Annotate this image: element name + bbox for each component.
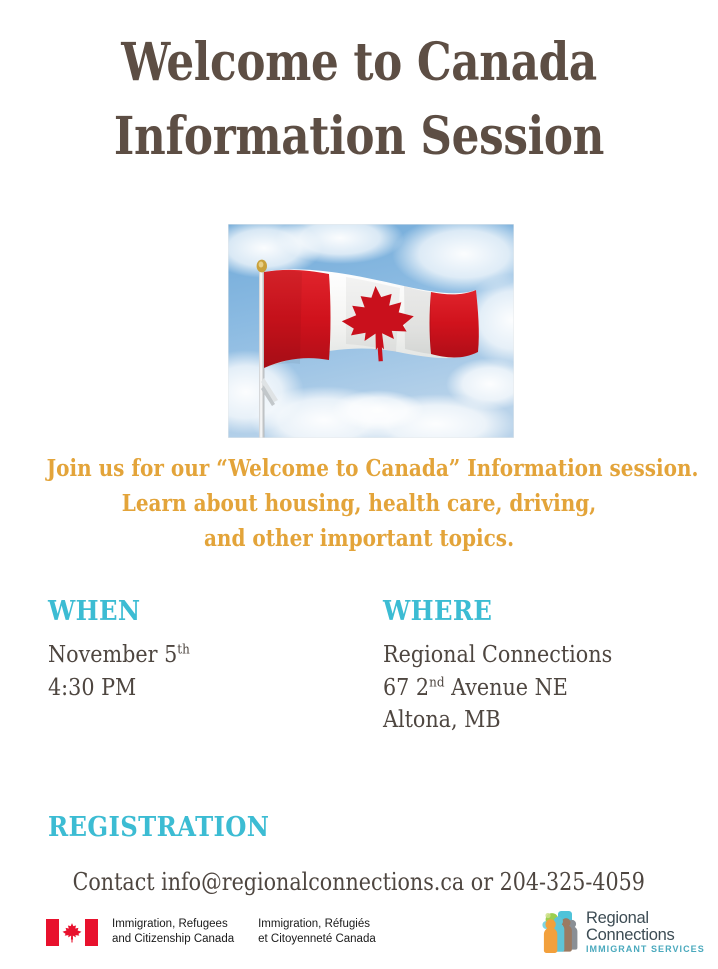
ircc-french-line-1: Immigration, Réfugiés: [258, 917, 376, 932]
when-date-text: November 5: [48, 642, 177, 668]
rc-name-line-2: Connections: [586, 927, 705, 944]
when-time: 4:30 PM: [48, 672, 190, 705]
ircc-english-line-1: Immigration, Refugees: [112, 917, 234, 932]
people-group-icon: [541, 909, 581, 955]
ircc-english: Immigration, Refugees and Citizenship Ca…: [112, 917, 234, 948]
rc-tagline: IMMIGRANT SERVICES: [586, 945, 705, 954]
canada-flag-photo: [228, 224, 514, 438]
registration-heading: REGISTRATION: [48, 812, 269, 843]
intro-line-3: and other important topics.: [47, 522, 672, 557]
where-street-tail: Avenue NE: [445, 675, 568, 701]
footer: Immigration, Refugees and Citizenship Ca…: [0, 907, 718, 969]
title-line-2: Information Session: [57, 100, 660, 174]
ircc-text-block: Immigration, Refugees and Citizenship Ca…: [112, 917, 376, 948]
when-column: WHEN November 5th 4:30 PM: [48, 596, 206, 704]
where-heading: WHERE: [383, 596, 612, 627]
intro-paragraph: Join us for our “Welcome to Canada” Info…: [0, 452, 718, 557]
where-venue: Regional Connections: [383, 639, 612, 672]
ircc-french: Immigration, Réfugiés et Citoyenneté Can…: [258, 917, 376, 948]
flag-photo-illustration: [228, 224, 514, 438]
event-details: WHEN November 5th 4:30 PM WHERE Regional…: [0, 596, 718, 756]
poster-canvas: Welcome to Canada Information Session: [0, 0, 718, 969]
rc-name-line-1: Regional: [586, 910, 705, 927]
ircc-french-line-2: et Citoyenneté Canada: [258, 932, 376, 947]
when-heading: WHEN: [48, 596, 190, 627]
when-date-suffix: th: [177, 642, 190, 657]
ircc-english-line-2: and Citizenship Canada: [112, 932, 234, 947]
where-column: WHERE Regional Connections 67 2nd Avenue…: [383, 596, 638, 737]
regional-connections-logo: Regional Connections IMMIGRANT SERVICES: [541, 909, 705, 955]
canada-flag-icon: [46, 919, 98, 946]
where-street: 67 2nd Avenue NE: [383, 672, 612, 705]
registration-contact: Contact info@regionalconnections.ca or 2…: [0, 868, 718, 896]
where-city: Altona, MB: [383, 704, 612, 737]
where-street-number: 67 2: [383, 675, 429, 701]
intro-line-2: Learn about housing, health care, drivin…: [47, 487, 672, 522]
page-title: Welcome to Canada Information Session: [0, 26, 718, 174]
when-date: November 5th: [48, 639, 190, 672]
where-street-suffix: nd: [429, 675, 444, 690]
registration-contact-text: Contact info@regionalconnections.ca or 2…: [73, 868, 645, 896]
title-line-1: Welcome to Canada: [57, 26, 660, 100]
ircc-wordmark: Immigration, Refugees and Citizenship Ca…: [46, 917, 376, 948]
regional-connections-wordmark: Regional Connections IMMIGRANT SERVICES: [586, 910, 705, 955]
intro-line-1: Join us for our “Welcome to Canada” Info…: [47, 452, 672, 487]
